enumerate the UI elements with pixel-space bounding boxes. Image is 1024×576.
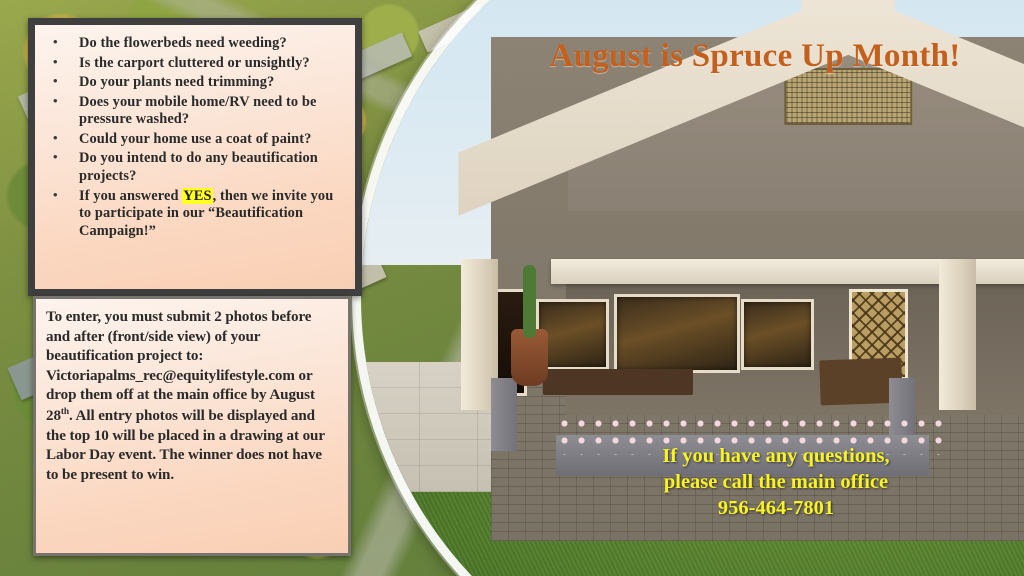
gable-vent [784,68,911,125]
list-item: Is the carport cluttered or unsightly? [41,55,347,73]
porch-column-right [939,259,976,410]
entry-instructions-text: To enter, you must submit 2 photos befor… [36,299,348,486]
page-title: August is Spruce Up Month! [520,38,990,75]
poster-canvas: August is Spruce Up Month! Do the flower… [0,0,1024,576]
cactus-plant [523,265,535,338]
contact-line-2: please call the main office [566,469,986,495]
porch-pier-left [491,378,517,451]
list-item: Do your plants need trimming? [41,74,347,92]
entry-text-part1: To enter, you must submit 2 photos befor… [46,309,315,424]
questions-list: Do the flowerbeds need weeding? Is the c… [35,25,355,240]
entry-instructions-panel: To enter, you must submit 2 photos befor… [33,296,351,556]
list-item-yes-invite: If you answered YES, then we invite you … [41,188,347,241]
questions-panel: Do the flowerbeds need weeding? Is the c… [28,18,362,296]
porch-window-right [741,299,814,370]
date-ordinal-suffix: th [61,407,69,417]
yes-highlight: YES [182,188,212,204]
contact-block: If you have any questions, please call t… [566,443,986,521]
list-item: Does your mobile home/RV need to be pres… [41,94,347,129]
terracotta-planter [511,329,548,386]
entry-text-part2: . All entry photos will be displayed and… [46,408,325,483]
porch-window-center [614,294,740,373]
roof-gable [458,0,1024,216]
yes-pre-text: If you answered [79,188,182,204]
porch-bench [543,369,692,394]
list-item: Do you intend to do any beautification p… [41,150,347,185]
contact-phone-number[interactable]: 956-464-7801 [566,495,986,521]
contact-line-1: If you have any questions, [566,443,986,469]
list-item: Do the flowerbeds need weeding? [41,35,347,53]
list-item: Could your home use a coat of paint? [41,131,347,149]
